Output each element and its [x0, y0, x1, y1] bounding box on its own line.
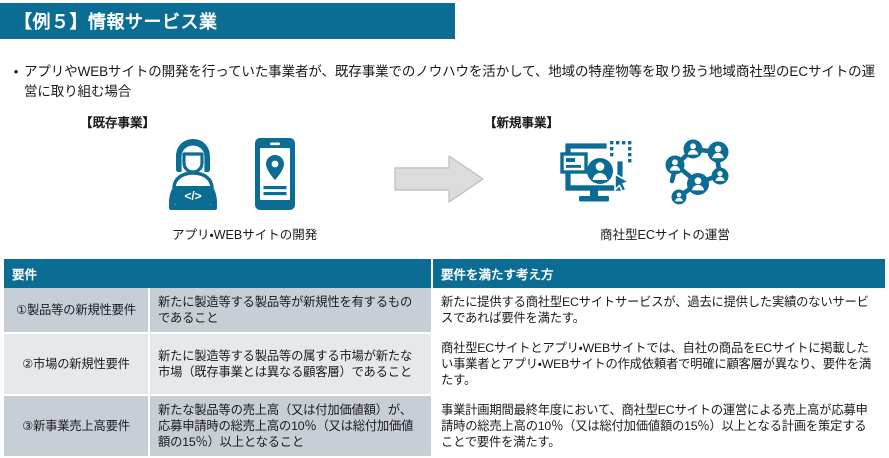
table-row: ③新事業売上高要件 新たな製品等の売上高（又は付加価値額）が、応募申請時の総売上… — [4, 395, 885, 457]
existing-business-label: 【既存事業】 — [80, 112, 155, 131]
requirement-description: 新たに製造等する製品等の属する市場が新たな市場（既存事業とは異なる顧客層）である… — [149, 333, 432, 395]
existing-business-caption: アプリ・WEBサイトの開発 — [172, 224, 317, 243]
requirement-approach: 新たに提供する商社型ECサイトサービスが、過去に提供した実績のないサービスであれ… — [432, 288, 885, 333]
requirement-description: 新たな製品等の売上高（又は付加価値額）が、応募申請時の総売上高の10％（又は総付… — [149, 395, 432, 457]
requirement-approach: 事業計画期間最終年度において、商社型ECサイトの運営による売上高が応募申請時の総… — [432, 395, 885, 457]
page-title-bar: 【例５】情報サービス業 — [0, 3, 455, 39]
requirement-approach: 商社型ECサイトとアプリ・WEBサイトでは、自社の商品をECサイトに掲載したい事… — [432, 333, 885, 395]
intro-text: アプリやWEBサイトの開発を行っていた事業者が、既存事業でのノウハウを活かして、… — [24, 62, 880, 102]
requirement-name: ②市場の新規性要件 — [4, 333, 149, 395]
new-business-caption: 商社型ECサイトの運営 — [600, 224, 730, 243]
page-title: 【例５】情報サービス業 — [0, 8, 218, 34]
intro-bullet: • アプリやWEBサイトの開発を行っていた事業者が、既存事業でのノウハウを活かし… — [8, 62, 880, 102]
new-business-icons — [560, 136, 732, 208]
person-laptop-code-icon: </> — [160, 136, 226, 212]
business-transition-diagram: 【既存事業】 【新規事業】 </> — [0, 106, 889, 251]
requirement-name: ③新事業売上高要件 — [4, 395, 149, 457]
svg-text:</>: </> — [184, 189, 201, 203]
table-header-requirement: 要件 — [4, 259, 432, 288]
requirements-table: 要件 要件を満たす考え方 ①製品等の新規性要件 新たに製造等する製品等が新規性を… — [4, 259, 885, 458]
requirement-description: 新たに製造等する製品等が新規性を有するものであること — [149, 288, 432, 333]
people-network-icon — [662, 136, 732, 208]
table-row: ②市場の新規性要件 新たに製造等する製品等の属する市場が新たな市場（既存事業とは… — [4, 333, 885, 395]
table-header-row: 要件 要件を満たす考え方 — [4, 259, 885, 288]
table-header-approach: 要件を満たす考え方 — [432, 259, 885, 288]
existing-business-icons: </> — [160, 136, 298, 212]
right-arrow-icon — [393, 154, 485, 204]
smartphone-location-icon — [252, 136, 298, 212]
requirement-name: ①製品等の新規性要件 — [4, 288, 149, 333]
bullet-marker-icon: • — [8, 62, 24, 81]
table-row: ①製品等の新規性要件 新たに製造等する製品等が新規性を有するものであること 新た… — [4, 288, 885, 333]
monitor-user-cursor-icon — [560, 136, 636, 208]
new-business-label: 【新規事業】 — [484, 112, 559, 131]
